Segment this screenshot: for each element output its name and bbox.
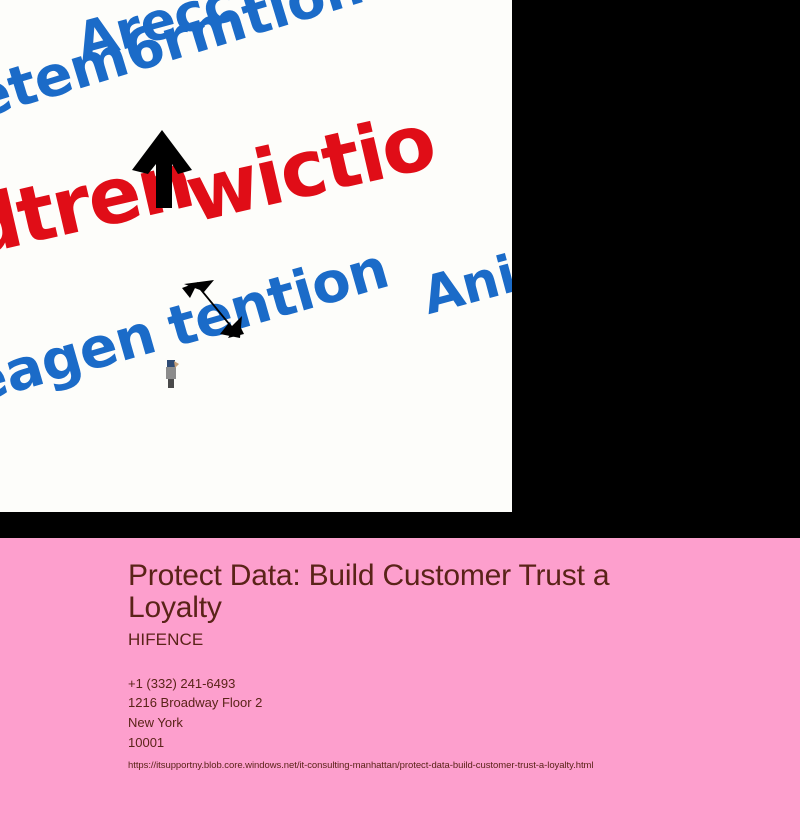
hero-region: Arecc etem6rmtion dtren wictio eagen ten… (0, 0, 800, 538)
source-url-link[interactable]: https://itsupportny.blob.core.windows.ne… (128, 760, 800, 771)
page-root: Arecc etem6rmtion dtren wictio eagen ten… (0, 0, 800, 840)
wordart-wictio: wictio (179, 103, 441, 235)
wordart-ani: Ani (417, 249, 512, 323)
contact-city: New York (128, 713, 800, 733)
contact-phone: +1 (332) 241-6493 (128, 674, 800, 694)
cursor-marker-icon (163, 360, 179, 388)
double-headed-arrow-icon (180, 278, 246, 340)
arrow-up-icon (126, 128, 198, 210)
brand-name: HIFENCE (128, 630, 800, 650)
contact-block: +1 (332) 241-6493 1216 Broadway Floor 2 … (128, 674, 800, 771)
contact-street: 1216 Broadway Floor 2 (128, 693, 800, 713)
wordart-etem6rmtion: etem6rmtion (0, 0, 369, 129)
page-title: Protect Data: Build Customer Trust a Loy… (128, 560, 688, 624)
wordart-eagen: eagen (0, 306, 162, 413)
contact-postal-code: 10001 (128, 733, 800, 753)
info-panel: Protect Data: Build Customer Trust a Loy… (0, 538, 800, 840)
hero-illustration: Arecc etem6rmtion dtren wictio eagen ten… (0, 0, 512, 512)
